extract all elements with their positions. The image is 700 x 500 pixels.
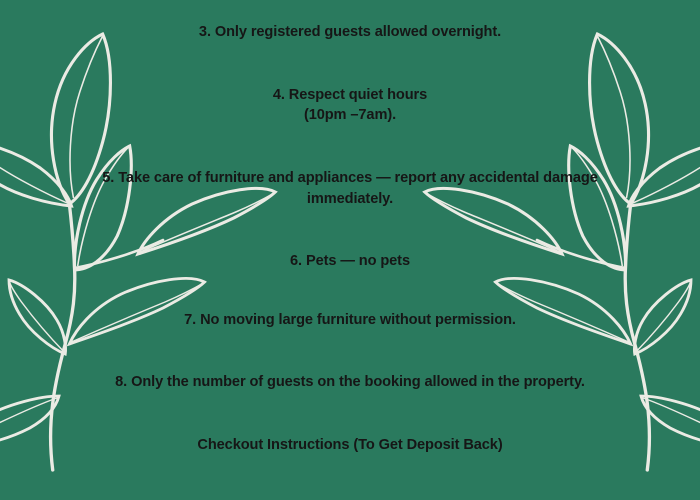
rule-item-4-line-1: 4. Respect quiet hours [62, 85, 638, 106]
checkout-instructions-heading: Checkout Instructions (To Get Deposit Ba… [62, 435, 638, 456]
rule-item-8: 8. Only the number of guests on the book… [62, 372, 638, 393]
rules-text-layer: 3. Only registered guests allowed overni… [0, 0, 700, 500]
rule-item-3: 3. Only registered guests allowed overni… [62, 22, 638, 43]
rule-item-4-line-2: (10pm –7am). [62, 105, 638, 126]
house-rules-card: 3. Only registered guests allowed overni… [0, 0, 700, 500]
rule-item-5: 5. Take care of furniture and appliances… [70, 168, 630, 209]
rule-item-6: 6. Pets — no pets [62, 251, 638, 272]
rule-item-7: 7. No moving large furniture without per… [62, 310, 638, 331]
